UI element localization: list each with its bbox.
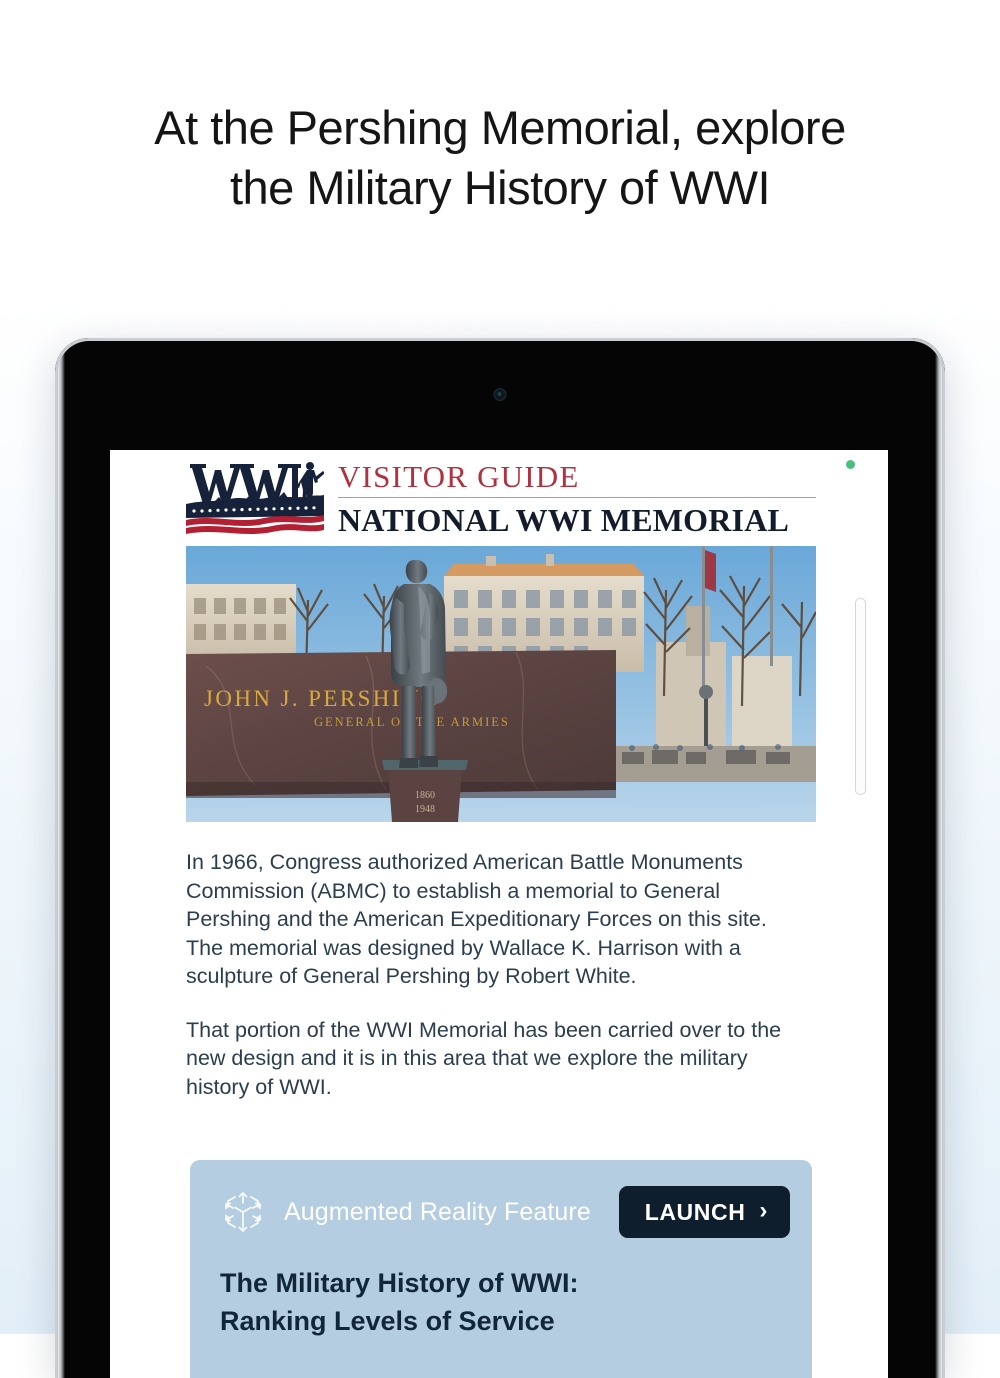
page-scrollbar[interactable] [855, 598, 866, 795]
launch-ar-button[interactable]: LAUNCH › [619, 1186, 790, 1238]
ar-feature-card: Augmented Reality Feature LAUNCH › The M… [190, 1160, 812, 1378]
masthead-text-block: VISITOR GUIDE NATIONAL WWI MEMORIAL [324, 458, 816, 538]
front-camera-icon [494, 388, 507, 401]
ar-cube-icon [220, 1189, 266, 1235]
ar-heading-line-2: Ranking Levels of Service [220, 1302, 782, 1340]
camera-lens [498, 392, 502, 396]
tablet-device: VISITOR GUIDE NATIONAL WWI MEMORIAL [55, 338, 945, 1378]
memorial-title: NATIONAL WWI MEMORIAL [338, 502, 816, 538]
launch-button-label: LAUNCH [645, 1199, 746, 1226]
article-body: In 1966, Congress authorized American Ba… [186, 848, 804, 1101]
status-indicator-dot [846, 460, 855, 469]
promo-headline-line-2: the Military History of WWI [0, 158, 1000, 218]
ar-feature-bar: Augmented Reality Feature LAUNCH › [190, 1160, 812, 1264]
promo-headline: At the Pershing Memorial, explore the Mi… [0, 98, 1000, 218]
wwi-soldier-logo-icon [186, 458, 324, 534]
body-paragraph-2: That portion of the WWI Memorial has bee… [186, 1016, 804, 1102]
masthead-divider [338, 497, 816, 498]
body-paragraph-1: In 1966, Congress authorized American Ba… [186, 848, 804, 991]
visitor-guide-eyebrow: VISITOR GUIDE [338, 460, 816, 493]
svg-text:1860: 1860 [415, 790, 435, 801]
ar-feature-label: Augmented Reality Feature [266, 1197, 619, 1227]
ar-heading-line-1: The Military History of WWI: [220, 1264, 782, 1302]
chevron-right-icon: › [759, 1199, 768, 1223]
promo-headline-line-1: At the Pershing Memorial, explore [0, 98, 1000, 158]
svg-text:1948: 1948 [415, 804, 435, 815]
hero-photo: JOHN J. PERSHING GENERAL OF THE ARMIES 1… [186, 546, 816, 822]
guide-masthead: VISITOR GUIDE NATIONAL WWI MEMORIAL [186, 458, 816, 536]
app-screen: VISITOR GUIDE NATIONAL WWI MEMORIAL [110, 450, 888, 1378]
ar-section-heading: The Military History of WWI: Ranking Lev… [190, 1264, 812, 1340]
